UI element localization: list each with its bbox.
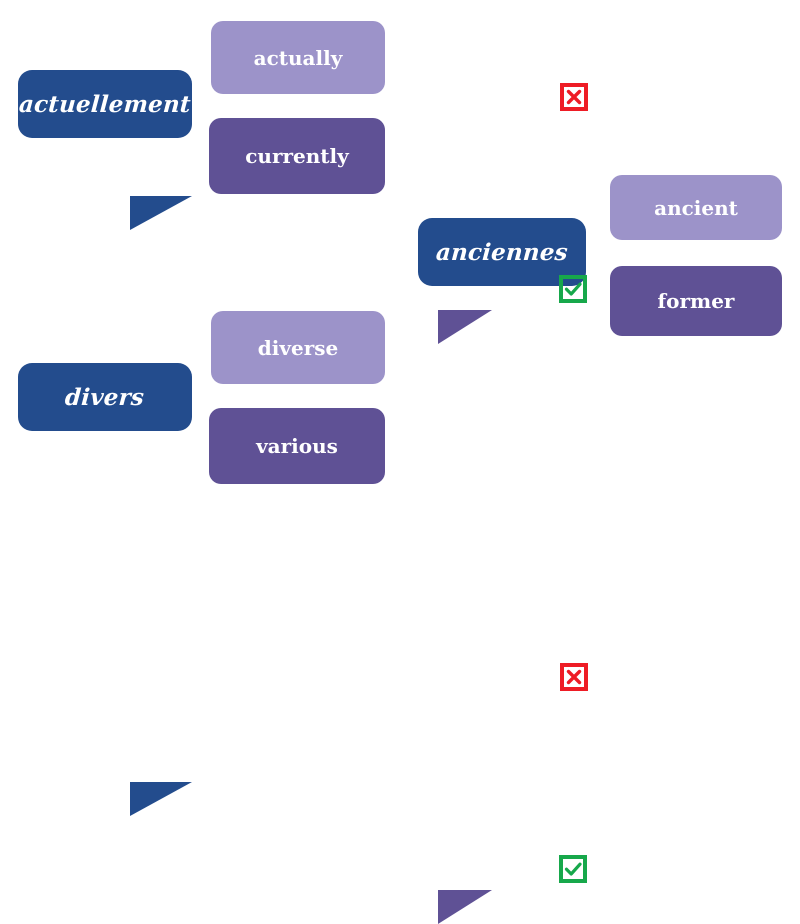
red-cross-box-icon [560,83,588,111]
wrong-translation-label: ancient [654,198,738,218]
source-word-label: actuellement [18,93,191,116]
correct-translation-bubble-former[interactable]: former [610,266,782,336]
source-word-label: anciennes [435,241,568,264]
wrong-translation-box-actually[interactable]: actually [211,21,385,94]
source-word-bubble-actuellement[interactable]: actuellement [18,70,192,138]
correct-translation-label: currently [245,146,349,166]
red-cross-box-icon [560,663,588,691]
wrong-translation-label: actually [254,48,343,68]
wrong-translation-box-diverse[interactable]: diverse [211,311,385,384]
wrong-translation-box-ancient[interactable]: ancient [610,175,782,240]
source-word-bubble-divers[interactable]: divers [18,363,192,431]
diagram-canvas: actuellement actually currently divers d… [0,0,800,505]
correct-translation-label: various [256,436,338,456]
green-check-box-icon [559,275,587,303]
speech-tail-bottom-left [438,890,492,924]
correct-translation-label: former [658,291,735,311]
speech-tail-bottom-left [438,310,492,344]
speech-tail-bottom-right [130,782,192,816]
green-check-box-icon [559,855,587,883]
source-word-label: divers [65,386,146,409]
correct-translation-bubble-various[interactable]: various [209,408,385,484]
correct-translation-bubble-currently[interactable]: currently [209,118,385,194]
speech-tail-bottom-right [130,196,192,230]
wrong-translation-label: diverse [258,338,338,358]
